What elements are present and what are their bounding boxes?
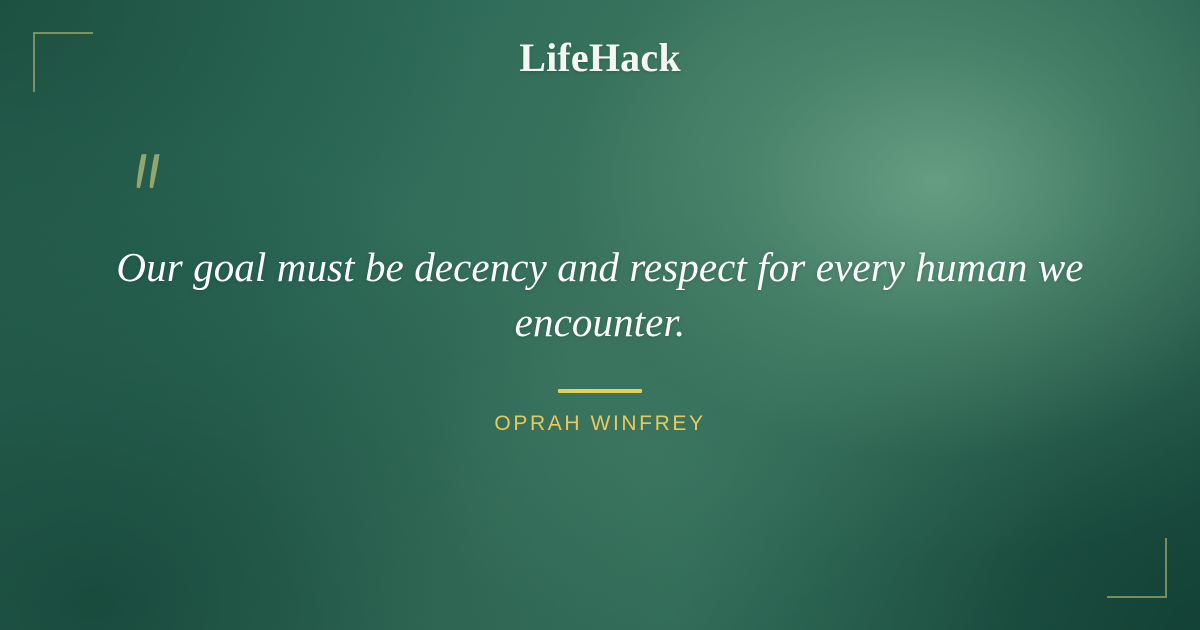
divider-rule [558, 389, 642, 393]
corner-bracket-bottom-right-icon [1107, 538, 1167, 598]
double-quote-icon [126, 150, 186, 210]
quote-attribution: OPRAH WINFREY [0, 412, 1200, 436]
quote-block: Our goal must be decency and respect for… [100, 240, 1100, 349]
divider-container [0, 380, 1200, 398]
brand-logo: LifeHack [0, 36, 1200, 80]
quote-card: LifeHack Our goal must be decency and re… [0, 0, 1200, 630]
quote-text: Our goal must be decency and respect for… [100, 240, 1100, 349]
